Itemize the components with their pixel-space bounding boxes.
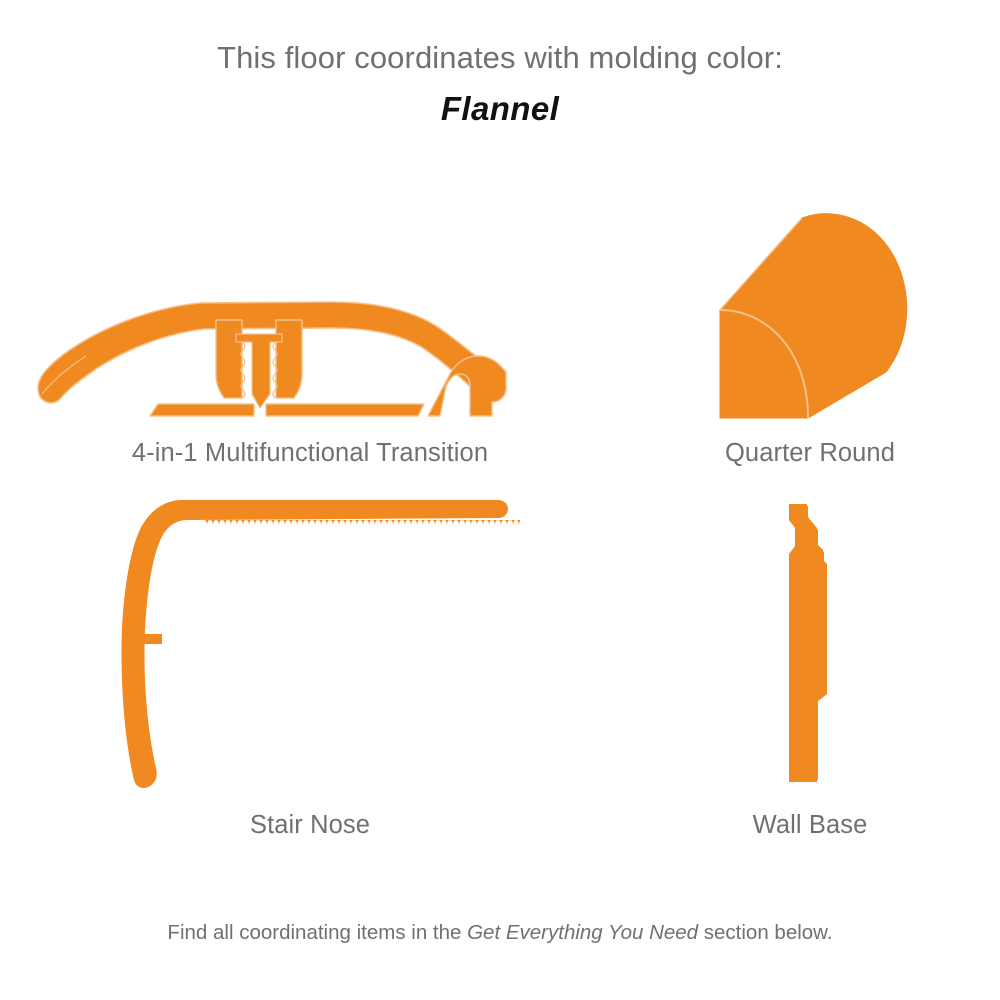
product-label-transition: 4-in-1 Multifunctional Transition xyxy=(132,438,488,468)
wall-base-profile-icon xyxy=(765,498,855,788)
molding-coordination-card: This floor coordinates with molding colo… xyxy=(0,0,1000,1000)
footer-note: Find all coordinating items in the Get E… xyxy=(0,920,1000,946)
page-title: This floor coordinates with molding colo… xyxy=(0,38,1000,78)
stair-nose-profile-icon xyxy=(100,488,520,788)
product-cell-transition[interactable]: 4-in-1 Multifunctional Transition xyxy=(0,170,620,468)
product-label-stair-nose: Stair Nose xyxy=(250,810,370,840)
footer-suffix: section below. xyxy=(698,921,832,944)
product-label-wall-base: Wall Base xyxy=(753,810,868,840)
product-label-quarter-round: Quarter Round xyxy=(725,438,895,468)
product-cell-quarter-round[interactable]: Quarter Round xyxy=(620,170,1000,468)
header: This floor coordinates with molding colo… xyxy=(0,38,1000,128)
transition-profile-icon xyxy=(30,290,590,420)
product-grid: 4-in-1 Multifunctional Transition xyxy=(0,170,1000,840)
footer-emphasis: Get Everything You Need xyxy=(467,921,698,944)
transition-art xyxy=(30,170,590,420)
product-row-bottom: Stair Nose Wall Base xyxy=(0,488,1000,840)
stair-nose-art xyxy=(100,488,520,788)
product-cell-stair-nose[interactable]: Stair Nose xyxy=(0,488,620,840)
quarter-round-art xyxy=(690,170,930,420)
quarter-round-icon xyxy=(690,190,930,420)
molding-color-name: Flannel xyxy=(0,90,1000,128)
product-row-top: 4-in-1 Multifunctional Transition xyxy=(0,170,1000,468)
footer-prefix: Find all coordinating items in the xyxy=(167,921,467,944)
wall-base-art xyxy=(765,488,855,788)
product-cell-wall-base[interactable]: Wall Base xyxy=(620,488,1000,840)
